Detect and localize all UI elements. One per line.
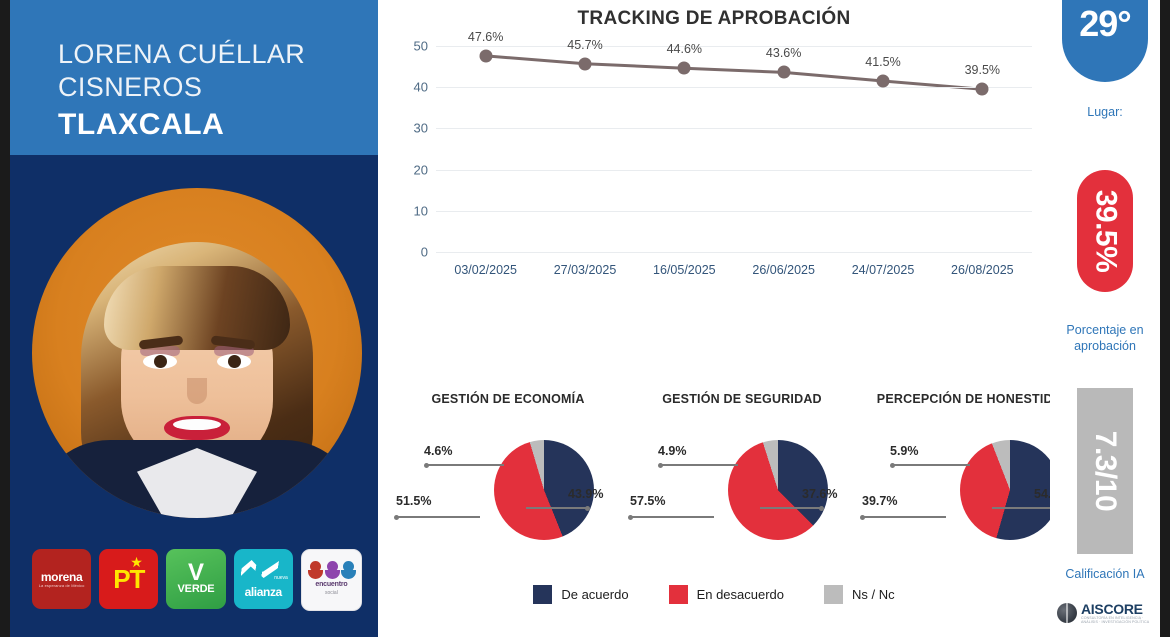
pie-leader-endesacuerdo — [862, 516, 946, 518]
aiscore-logo: AISCORE CONSULTORÍA EN INTELIGENCIA · AN… — [1057, 598, 1153, 628]
alianza-nueva-label: nueva — [274, 575, 288, 581]
infographic-root: LORENA CUÉLLAR CISNEROS TLAXCALA — [0, 0, 1170, 637]
party-logo-encuentro: encuentro social — [301, 549, 362, 611]
rank-value: 29° — [1079, 0, 1130, 43]
y-gridline — [436, 46, 1032, 47]
rank-badge: 29° — [1062, 0, 1148, 82]
x-axis-tick: 26/08/2025 — [951, 263, 1014, 277]
fringe-shape — [104, 266, 290, 350]
pie-label-nsnc: 4.9% — [658, 444, 687, 458]
legend-swatch — [669, 585, 688, 604]
approval-value: 39.5% — [1088, 190, 1122, 273]
globe-icon — [1057, 603, 1077, 623]
legend-swatch — [824, 585, 843, 604]
pie-chart-title: GESTIÓN DE ECONOMÍA — [396, 392, 620, 406]
data-point-label: 44.6% — [667, 42, 702, 56]
candidate-name: LORENA CUÉLLAR CISNEROS — [58, 38, 358, 104]
pie-label-endesacuerdo: 51.5% — [396, 494, 431, 508]
data-point-label: 41.5% — [865, 55, 900, 69]
legend-label: De acuerdo — [561, 587, 628, 602]
portrait-illustration — [32, 188, 362, 518]
pie-charts-row: GESTIÓN DE ECONOMÍA43.9%51.5%4.6%GESTIÓN… — [378, 392, 1050, 592]
y-axis-tick: 0 — [421, 245, 428, 260]
legend-label: Ns / Nc — [852, 587, 895, 602]
x-axis-tick: 24/07/2025 — [852, 263, 915, 277]
pupil-left — [154, 355, 167, 368]
verde-label: VERDE — [178, 583, 215, 595]
approval-tracking-chart: 0102030405003/02/202527/03/202516/05/202… — [398, 40, 1038, 290]
pie-leader-deacuerdo — [992, 507, 1054, 509]
data-point[interactable] — [479, 49, 492, 62]
data-point-label: 43.6% — [766, 46, 801, 60]
rank-caption: Lugar: — [1050, 104, 1160, 120]
y-gridline — [436, 252, 1032, 253]
y-gridline — [436, 87, 1032, 88]
candidate-state: TLAXCALA — [58, 108, 224, 142]
pupil-right — [228, 355, 241, 368]
pie-leader-nsnc — [660, 464, 738, 466]
pie-chart-block: GESTIÓN DE SEGURIDAD37.6%57.5%4.9% — [630, 392, 854, 592]
x-axis-tick: 03/02/2025 — [454, 263, 517, 277]
nose-shape — [187, 378, 207, 404]
star-icon: ★ — [130, 555, 143, 569]
legend-swatch — [533, 585, 552, 604]
approval-caption-1: Porcentaje en — [1050, 322, 1160, 338]
x-axis-tick: 16/05/2025 — [653, 263, 716, 277]
aiscore-tagline: CONSULTORÍA EN INTELIGENCIA · ANÁLISIS ·… — [1081, 616, 1153, 624]
approval-badge: 39.5% — [1077, 170, 1133, 292]
party-logo-verde: V VERDE — [166, 549, 225, 609]
candidate-photo — [32, 188, 362, 518]
legend-item[interactable]: De acuerdo — [533, 585, 628, 604]
ai-score-value: 7.3/10 — [1088, 431, 1122, 511]
party-logos: morena La esperanza de México ★ PT V VER… — [32, 549, 362, 611]
candidate-panel: LORENA CUÉLLAR CISNEROS TLAXCALA — [10, 0, 378, 637]
pie-leader-deacuerdo — [526, 507, 588, 509]
pie-leader-deacuerdo — [760, 507, 822, 509]
party-logo-alianza: nueva alianza — [234, 549, 293, 609]
data-point[interactable] — [777, 66, 790, 79]
ai-score-badge: 7.3/10 — [1077, 388, 1133, 554]
data-point-label: 39.5% — [965, 63, 1000, 77]
summary-panel: 29° Lugar: 39.5% Porcentaje en aprobació… — [1050, 0, 1160, 637]
legend-item[interactable]: Ns / Nc — [824, 585, 895, 604]
y-axis-tick: 30 — [414, 121, 428, 136]
pie-label-endesacuerdo: 39.7% — [862, 494, 897, 508]
people-icon — [310, 561, 354, 579]
legend-item[interactable]: En desacuerdo — [669, 585, 784, 604]
data-point-label: 45.7% — [567, 38, 602, 52]
charts-legend: De acuerdoEn desacuerdoNs / Nc — [378, 585, 1050, 604]
pie-leader-nsnc — [426, 464, 504, 466]
data-point[interactable] — [678, 62, 691, 75]
data-point[interactable] — [877, 75, 890, 88]
pie-chart-block: GESTIÓN DE ECONOMÍA43.9%51.5%4.6% — [396, 392, 620, 592]
alianza-label: alianza — [245, 585, 282, 599]
teeth-shape — [173, 419, 221, 430]
eye-right — [217, 354, 251, 369]
approval-caption-2: aprobación — [1050, 338, 1160, 354]
party-logo-morena: morena La esperanza de México — [32, 549, 91, 609]
aiscore-wordmark: AISCORE — [1081, 603, 1153, 616]
morena-label: morena — [39, 571, 85, 583]
encuentro-label: encuentro — [302, 581, 361, 588]
y-gridline — [436, 128, 1032, 129]
x-axis-tick: 27/03/2025 — [554, 263, 617, 277]
data-point[interactable] — [976, 83, 989, 96]
pie-label-nsnc: 5.9% — [890, 444, 919, 458]
encuentro-sub: social — [302, 590, 361, 596]
data-point-label: 47.6% — [468, 30, 503, 44]
pie-label-endesacuerdo: 57.5% — [630, 494, 665, 508]
y-axis-tick: 10 — [414, 203, 428, 218]
pie-label-deacuerdo: 37.6% — [802, 487, 837, 501]
ai-score-caption: Calificación IA — [1050, 566, 1160, 582]
charts-area: TRACKING DE APROBACIÓN 0102030405003/02/… — [378, 0, 1050, 637]
pie-leader-endesacuerdo — [396, 516, 480, 518]
y-axis-tick: 20 — [414, 162, 428, 177]
y-gridline — [436, 211, 1032, 212]
data-point[interactable] — [579, 57, 592, 70]
toucan-icon: V — [178, 563, 215, 583]
y-gridline — [436, 170, 1032, 171]
x-axis-tick: 26/06/2025 — [752, 263, 815, 277]
party-logo-pt: ★ PT — [99, 549, 158, 609]
pie-label-deacuerdo: 43.9% — [568, 487, 603, 501]
y-axis-tick: 50 — [414, 39, 428, 54]
pie-chart-title: GESTIÓN DE SEGURIDAD — [630, 392, 854, 406]
line-plot-area: 0102030405003/02/202527/03/202516/05/202… — [436, 46, 1032, 252]
pie-leader-nsnc — [892, 464, 970, 466]
pie-leader-endesacuerdo — [630, 516, 714, 518]
morena-tagline: La esperanza de México — [39, 583, 85, 588]
y-axis-tick: 40 — [414, 80, 428, 95]
eye-left — [143, 354, 177, 369]
legend-label: En desacuerdo — [697, 587, 784, 602]
tracking-title: TRACKING DE APROBACIÓN — [378, 8, 1050, 30]
pie-label-nsnc: 4.6% — [424, 444, 453, 458]
